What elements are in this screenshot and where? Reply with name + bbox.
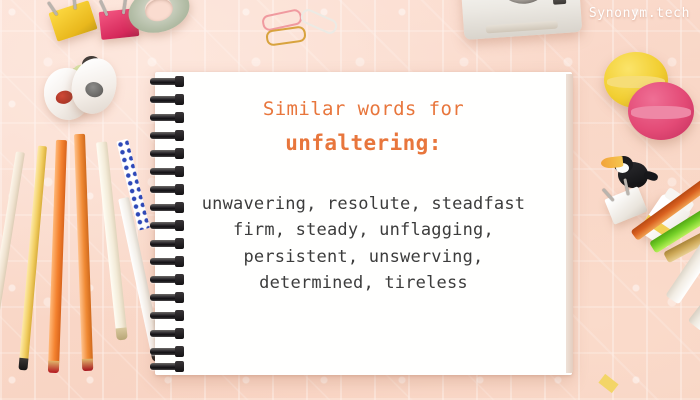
synonym-line: determined, tireless (202, 270, 525, 296)
camera-flash (553, 0, 567, 5)
synonym-line: firm, steady, unflagging, (202, 217, 525, 243)
toucan-figurine (608, 152, 654, 192)
headword: unfaltering: (285, 131, 442, 155)
camera-lens (492, 0, 554, 6)
camera-grip (486, 21, 558, 34)
synonym-line: persistent, unswerving, (202, 244, 525, 270)
synonym-line: unwavering, resolute, steadfast (202, 191, 525, 217)
screenshot-root: Similar words for unfaltering: unwaverin… (0, 0, 700, 400)
site-watermark: Synonym.tech (589, 6, 690, 21)
synonym-list: unwavering, resolute, steadfast firm, st… (202, 191, 525, 296)
macaron-pink (628, 82, 694, 140)
notepad-content: Similar words for unfaltering: unwaverin… (155, 72, 572, 375)
similar-words-label: Similar words for (263, 98, 464, 120)
